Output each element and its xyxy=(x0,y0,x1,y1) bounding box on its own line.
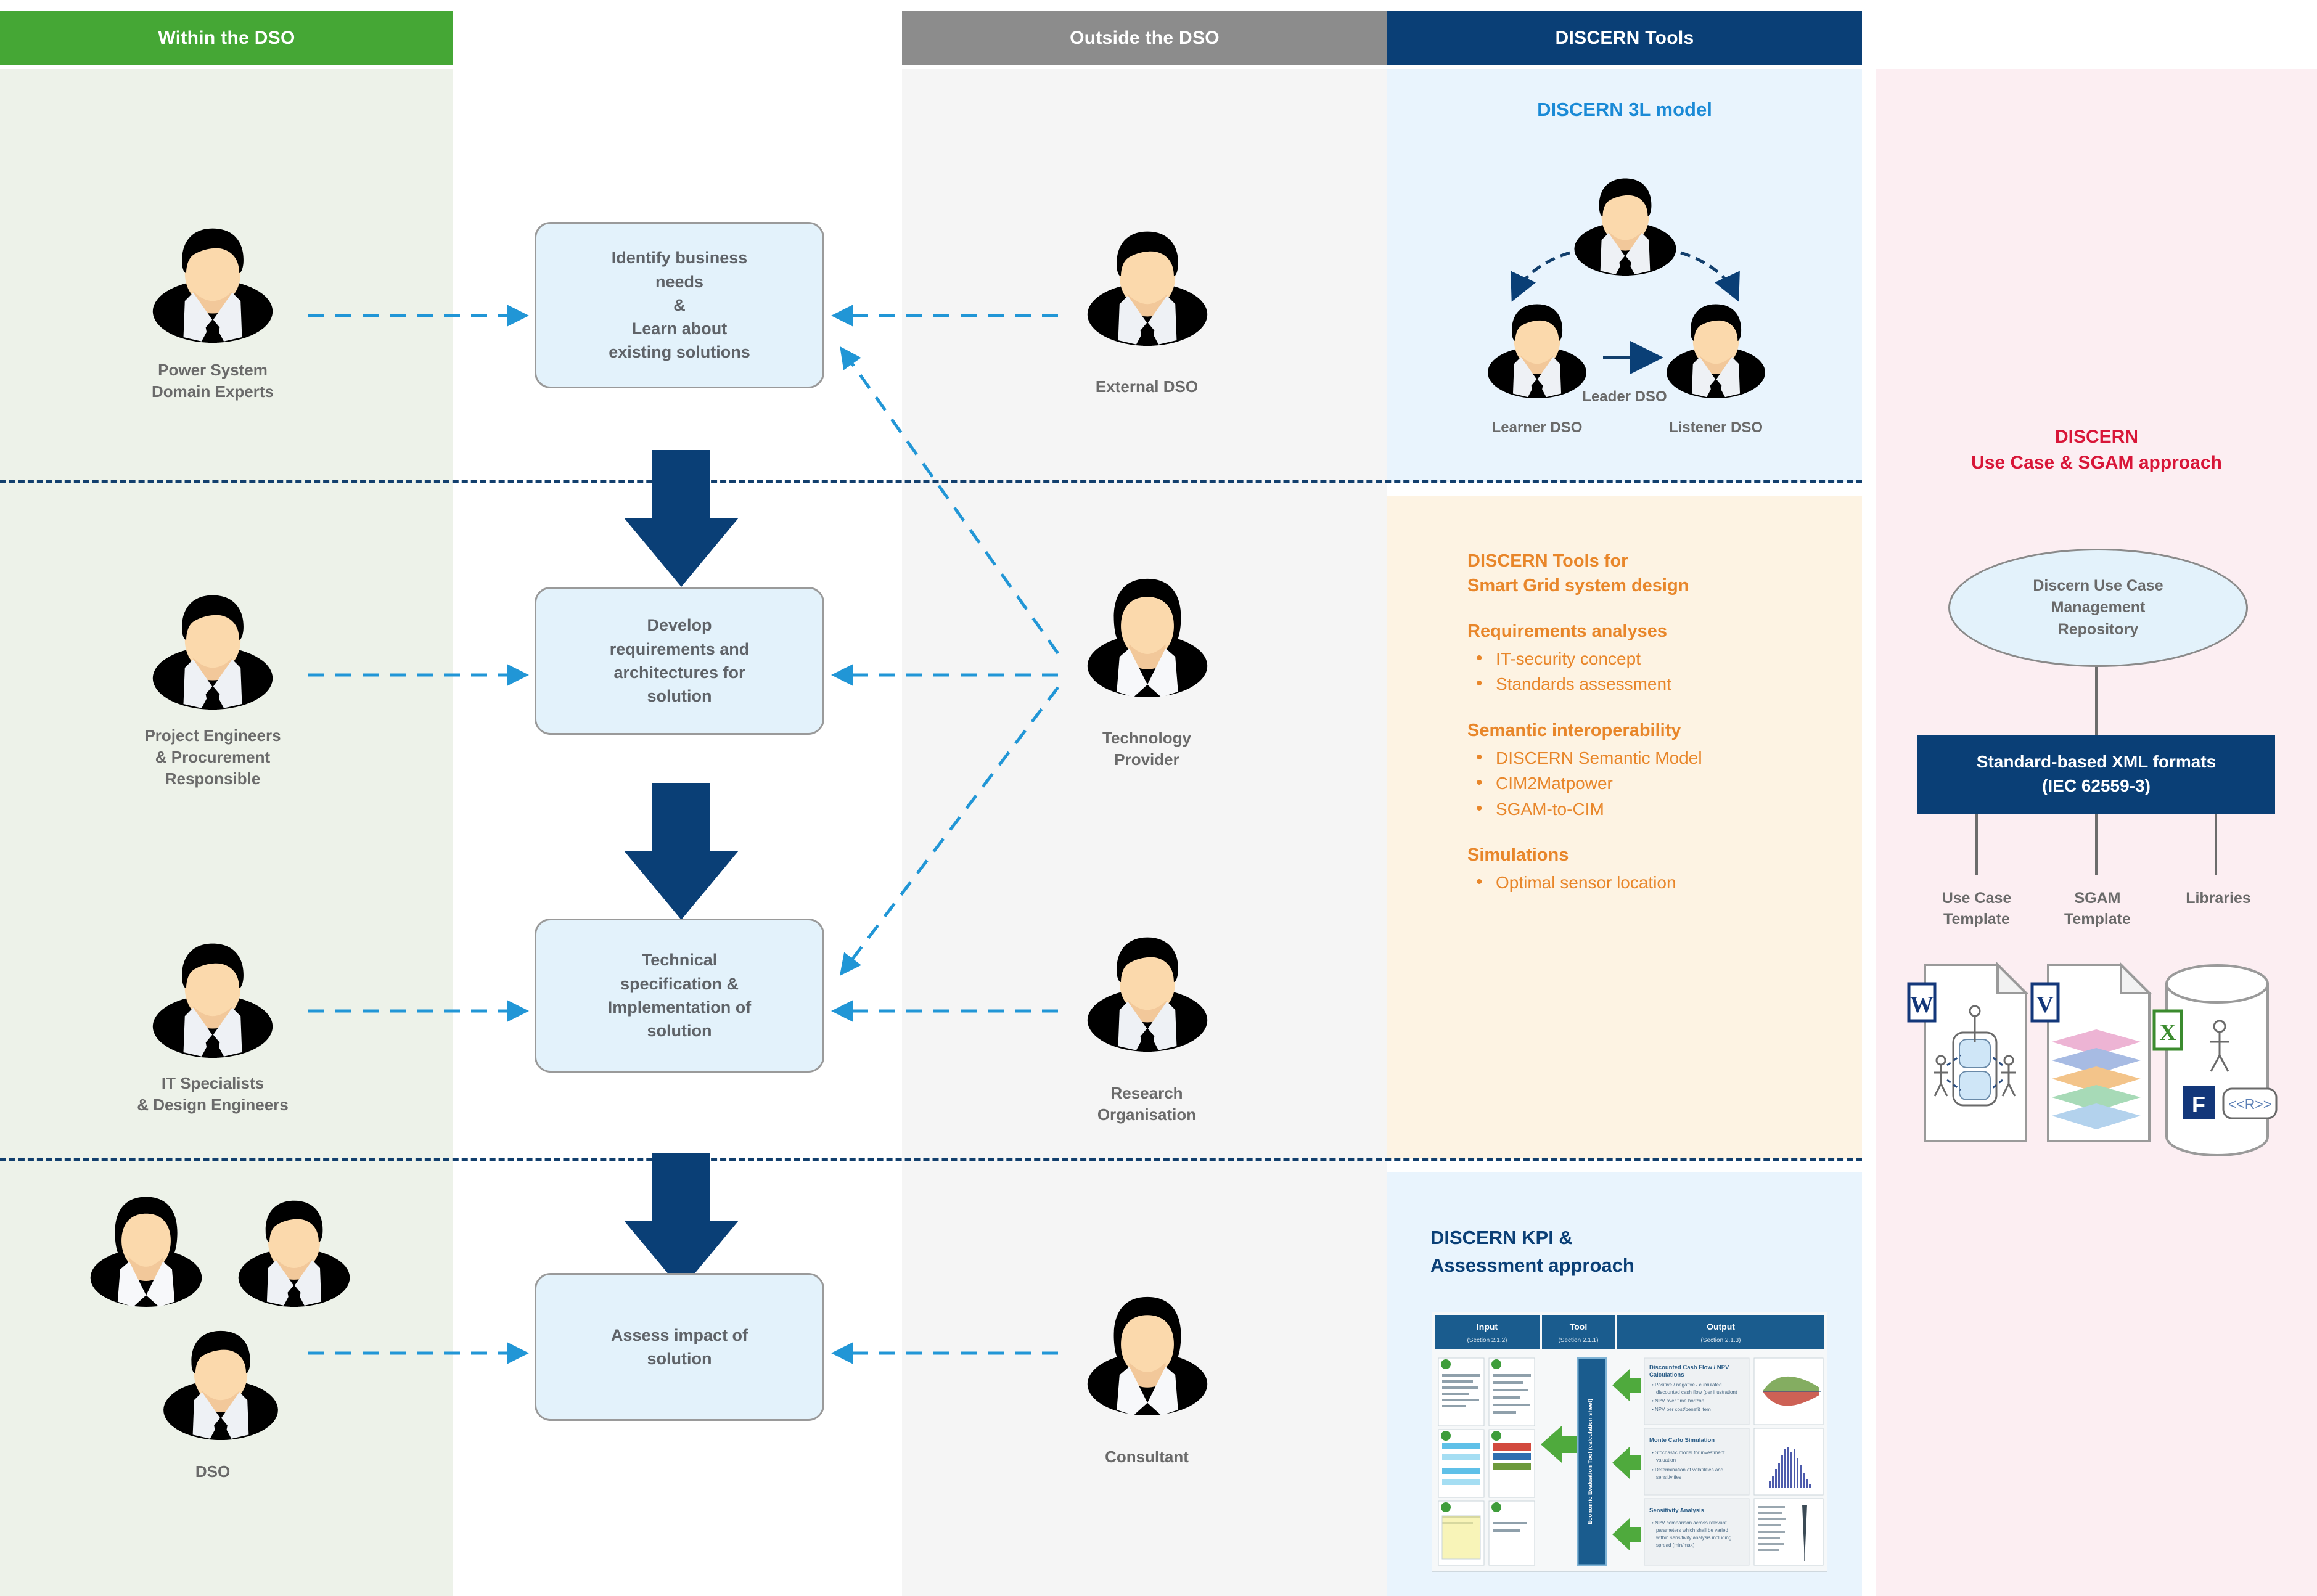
sgam-template-icon: V xyxy=(2032,965,2149,1141)
svg-text:parameters which shall be vari: parameters which shall be varied xyxy=(1656,1528,1728,1533)
kpi-col-title-tool: Tool xyxy=(1570,1322,1588,1332)
node-label-learner-dso: Learner DSO xyxy=(1441,419,1633,436)
group-list-semantic-interoperability: DISCERN Semantic Model CIM2Matpower SGAM… xyxy=(1467,745,1837,822)
use-case-sgam-title-line2: Use Case & SGAM approach xyxy=(1876,450,2317,476)
use-case-management-repository-node[interactable]: Discern Use Case Management Repository xyxy=(1948,549,2248,667)
svg-text:• NPV per cost/benefit item: • NPV per cost/benefit item xyxy=(1652,1407,1711,1412)
svg-text:discounted cash flow (per illu: discounted cash flow (per illustration) xyxy=(1656,1389,1737,1395)
svg-text:F: F xyxy=(2192,1092,2205,1117)
list-item[interactable]: Standards assessment xyxy=(1467,671,1837,697)
process-box-assess-impact[interactable]: Assess impact of solution xyxy=(535,1273,824,1421)
smart-grid-heading-line1: DISCERN Tools for xyxy=(1467,549,1837,573)
svg-text:V: V xyxy=(2036,992,2054,1018)
artifact-label-libraries: Libraries xyxy=(2151,888,2286,909)
node-label-listener-dso: Listener DSO xyxy=(1620,419,1811,436)
node-label-leader-dso: Leader DSO xyxy=(1529,388,1720,406)
persona-label-it-specialists: IT Specialists & Design Engineers xyxy=(65,1073,361,1116)
use-case-template-icon: W xyxy=(1909,965,2026,1141)
repository-label: Discern Use Case Management Repository xyxy=(2033,575,2163,641)
group-title-simulations: Simulations xyxy=(1467,843,1837,867)
persona-label-power-system-domain-experts: Power System Domain Experts xyxy=(65,359,361,403)
artifact-label-use-case-template: Use Case Template xyxy=(1909,888,2044,930)
svg-text:Sensitivity Analysis: Sensitivity Analysis xyxy=(1649,1507,1704,1514)
process-box-label: Technical specification & Implementation… xyxy=(608,948,752,1042)
svg-text:• Stochastic model for investm: • Stochastic model for investment xyxy=(1652,1450,1725,1455)
list-item[interactable]: CIM2Matpower xyxy=(1467,771,1837,796)
persona-label-external-dso: External DSO xyxy=(1005,376,1289,398)
group-title-requirements-analyses: Requirements analyses xyxy=(1467,619,1837,644)
svg-text:(Section 2.1.2): (Section 2.1.2) xyxy=(1467,1337,1507,1344)
kpi-tool-label: Economic Evaluation Tool (calculation sh… xyxy=(1587,1399,1594,1524)
svg-text:within sensitivity analysis in: within sensitivity analysis including xyxy=(1655,1535,1731,1541)
list-item[interactable]: IT-security concept xyxy=(1467,646,1837,671)
kpi-col-title-input: Input xyxy=(1477,1322,1498,1332)
group-title-semantic-interoperability: Semantic interoperability xyxy=(1467,718,1837,743)
standard-based-xml-formats-box[interactable]: Standard-based XML formats (IEC 62559-3) xyxy=(1917,735,2275,814)
process-box-label: Develop requirements and architectures f… xyxy=(610,613,750,708)
kpi-assessment-heading: DISCERN KPI & Assessment approach xyxy=(1430,1224,1825,1280)
list-item[interactable]: DISCERN Semantic Model xyxy=(1467,745,1837,771)
persona-label-dso: DSO xyxy=(65,1461,361,1483)
kpi-heading-line2: Assessment approach xyxy=(1430,1251,1825,1279)
smart-grid-tools-block: DISCERN Tools for Smart Grid system desi… xyxy=(1467,549,1837,896)
xml-box-line1: Standard-based XML formats xyxy=(1977,752,2216,771)
svg-text:<<R>>: <<R>> xyxy=(2228,1096,2271,1112)
discern-3l-model-title: DISCERN 3L model xyxy=(1387,99,1862,121)
use-case-sgam-title: DISCERN Use Case & SGAM approach xyxy=(1876,424,2317,476)
svg-text:• NPV over time horizon: • NPV over time horizon xyxy=(1652,1398,1704,1404)
process-box-develop-requirements[interactable]: Develop requirements and architectures f… xyxy=(535,587,824,735)
smart-grid-heading-line2: Smart Grid system design xyxy=(1467,573,1837,598)
persona-label-technology-provider: Technology Provider xyxy=(1005,727,1289,771)
group-list-simulations: Optimal sensor location xyxy=(1467,870,1837,895)
svg-text:• Positive / negative / cumula: • Positive / negative / cumulated xyxy=(1652,1382,1722,1388)
svg-text:valuation: valuation xyxy=(1656,1457,1676,1463)
svg-text:Monte Carlo Simulation: Monte Carlo Simulation xyxy=(1649,1437,1715,1444)
svg-text:(Section 2.1.3): (Section 2.1.3) xyxy=(1700,1337,1741,1344)
persona-label-consultant: Consultant xyxy=(1005,1446,1289,1468)
list-item[interactable]: SGAM-to-CIM xyxy=(1467,796,1837,822)
libraries-icon: X F <<R>> xyxy=(2154,965,2276,1155)
kpi-heading-line1: DISCERN KPI & xyxy=(1430,1224,1825,1251)
svg-text:spread (min/max): spread (min/max) xyxy=(1656,1542,1695,1548)
artifact-label-sgam-template: SGAM Template xyxy=(2030,888,2165,930)
svg-text:• NPV comparison across releva: • NPV comparison across relevant xyxy=(1652,1520,1727,1526)
list-item[interactable]: Optimal sensor location xyxy=(1467,870,1837,895)
persona-label-project-engineers: Project Engineers & Procurement Responsi… xyxy=(65,725,361,789)
process-box-identify-business-needs[interactable]: Identify business needs & Learn about ex… xyxy=(535,222,824,388)
svg-text:• Determination of volatilitie: • Determination of volatilities and xyxy=(1652,1467,1723,1473)
kpi-col-title-output: Output xyxy=(1707,1322,1735,1332)
svg-text:W: W xyxy=(1910,992,1934,1018)
svg-text:Discounted Cash Flow / NPV: Discounted Cash Flow / NPV xyxy=(1649,1364,1729,1371)
kpi-tool-thumbnail[interactable]: Input (Section 2.1.2) Tool (Section 2.1.… xyxy=(1432,1312,1827,1572)
svg-text:X: X xyxy=(2159,1020,2176,1046)
use-case-sgam-title-line1: DISCERN xyxy=(1876,424,2317,450)
diagram-canvas: Within the DSO Outside the DSO DISCERN T… xyxy=(0,0,2317,1596)
process-box-label: Identify business needs & Learn about ex… xyxy=(609,246,750,364)
process-box-technical-specification[interactable]: Technical specification & Implementation… xyxy=(535,919,824,1073)
svg-text:(Section 2.1.1): (Section 2.1.1) xyxy=(1558,1337,1598,1344)
persona-label-research-organisation: Research Organisation xyxy=(1005,1082,1289,1126)
svg-text:sensitivities: sensitivities xyxy=(1656,1475,1681,1480)
svg-text:Calculations: Calculations xyxy=(1649,1372,1684,1378)
process-box-label: Assess impact of solution xyxy=(611,1324,748,1371)
xml-box-line2: (IEC 62559-3) xyxy=(2042,776,2151,795)
group-list-requirements-analyses: IT-security concept Standards assessment xyxy=(1467,646,1837,697)
